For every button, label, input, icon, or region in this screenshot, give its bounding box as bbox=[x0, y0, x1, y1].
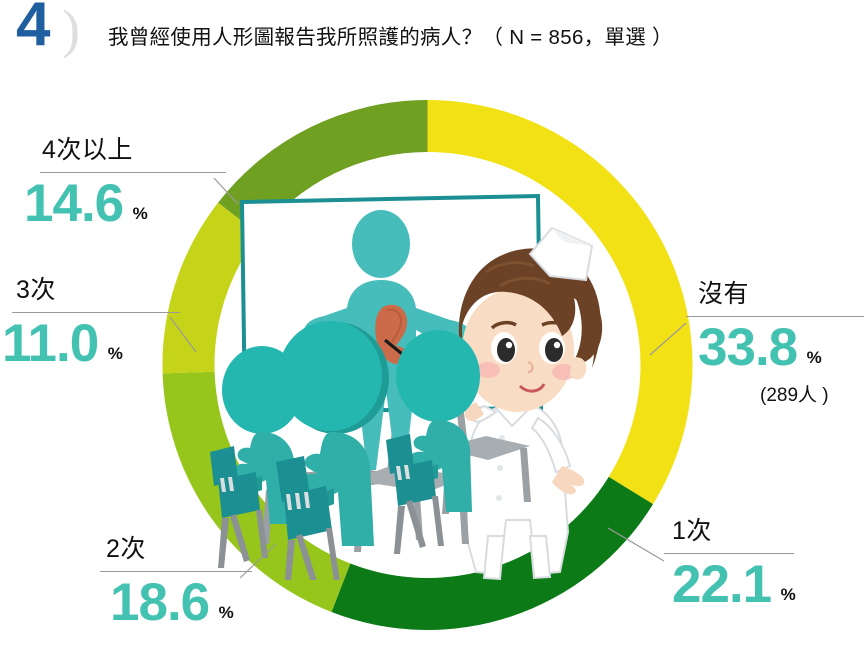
percent-sign: % bbox=[133, 204, 148, 224]
callout-value-none: 33.8 bbox=[698, 321, 797, 374]
callout-value-row: 11.0 % bbox=[2, 317, 218, 370]
callout-rule bbox=[12, 312, 180, 313]
callout-2-times: 2次 18.6 % bbox=[92, 537, 328, 629]
question-number-paren: ) bbox=[62, 2, 80, 56]
percent-sign: % bbox=[781, 585, 796, 605]
header: 4 ) 我曾經使用人形圖報告我所照護的病人？（ N = 856，單選 ） bbox=[0, 0, 864, 72]
callout-value-1-time: 22.1 bbox=[672, 558, 771, 611]
callout-rule bbox=[40, 172, 226, 173]
callout-value-row: 33.8 % bbox=[698, 321, 864, 374]
callout-none: 沒有 33.8 % (289人 ) bbox=[676, 282, 864, 407]
callout-value-2-times: 18.6 bbox=[110, 576, 209, 629]
percent-sign: % bbox=[108, 344, 123, 364]
question-title: 我曾經使用人形圖報告我所照護的病人？（ N = 856，單選 ） bbox=[108, 20, 673, 50]
callout-value-3-times: 11.0 bbox=[2, 317, 98, 370]
illustration-svg bbox=[200, 180, 670, 580]
percent-sign: % bbox=[219, 603, 234, 623]
callout-label-4-or-more: 4次以上 bbox=[42, 138, 228, 163]
callout-3-times: 3次 11.0 % bbox=[2, 278, 218, 370]
percent-sign: % bbox=[807, 348, 822, 368]
callout-label-3-times: 3次 bbox=[16, 278, 218, 303]
callout-value-row: 22.1 % bbox=[672, 558, 864, 611]
callout-rule bbox=[686, 316, 864, 317]
callout-value-row: 14.6 % bbox=[24, 177, 228, 230]
callout-value-4-or-more: 14.6 bbox=[24, 177, 123, 230]
callout-rule bbox=[100, 571, 252, 572]
callout-label-none: 沒有 bbox=[698, 282, 864, 307]
callout-count-none: (289人 ) bbox=[760, 380, 864, 407]
callout-rule bbox=[664, 553, 794, 554]
callout-value-row: 18.6 % bbox=[110, 576, 328, 629]
infographic-page: 4 ) 我曾經使用人形圖報告我所照護的病人？（ N = 856，單選 ） bbox=[0, 0, 864, 656]
callout-label-2-times: 2次 bbox=[106, 537, 328, 562]
illustration-nurse-teaching bbox=[200, 180, 670, 580]
question-number: 4 bbox=[16, 0, 49, 56]
callout-label-1-time: 1次 bbox=[672, 519, 864, 544]
callout-1-time: 1次 22.1 % bbox=[664, 519, 864, 611]
callout-4-or-more: 4次以上 14.6 % bbox=[12, 138, 228, 230]
